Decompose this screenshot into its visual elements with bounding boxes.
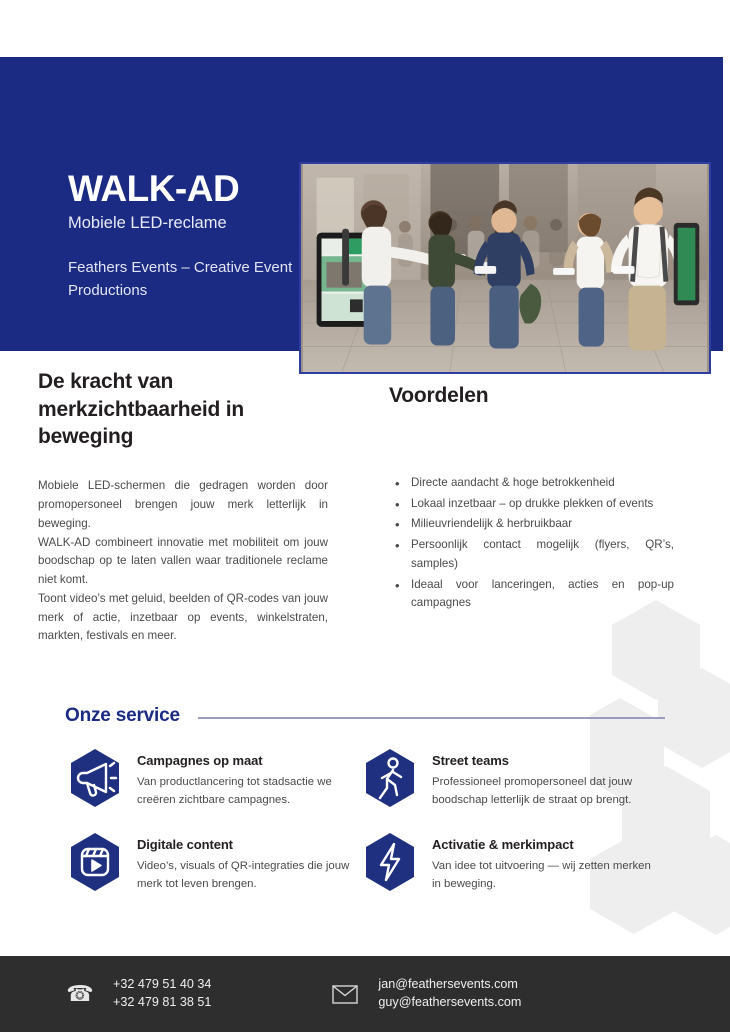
phone-number[interactable]: +32 479 81 38 51 xyxy=(113,994,211,1012)
megaphone-icon xyxy=(65,747,125,809)
intro-paragraph-1: Mobiele LED-schermen die gedragen worden… xyxy=(38,477,328,533)
telephone-icon: ☎ xyxy=(63,983,97,1005)
service-text-street-teams: Street teams Professioneel promopersonee… xyxy=(432,747,660,809)
service-description: Video’s, visuals of QR-integraties die j… xyxy=(137,858,360,893)
email-address[interactable]: jan@feathersevents.com xyxy=(378,976,521,994)
intro-paragraph-2: WALK-AD combineert innovatie met mobilit… xyxy=(38,534,328,590)
service-item-activatie: Activatie & merkimpact Van idee tot uitv… xyxy=(360,831,660,893)
email-address[interactable]: guy@feathersevents.com xyxy=(378,994,521,1012)
hero-photo xyxy=(299,162,711,374)
footer-phone-group: ☎ +32 479 51 40 34 +32 479 81 38 51 xyxy=(63,976,211,1012)
services-header-row: Onze service xyxy=(65,705,665,727)
left-content-column: De kracht van merkzichtbaarheid in beweg… xyxy=(38,368,328,646)
services-grid: Campagnes op maat Van productlancering t… xyxy=(65,747,665,894)
service-title: Campagnes op maat xyxy=(137,753,360,768)
service-item-campagnes: Campagnes op maat Van productlancering t… xyxy=(65,747,360,809)
lightning-bolt-icon xyxy=(360,831,420,893)
service-text-activatie: Activatie & merkimpact Van idee tot uitv… xyxy=(432,831,660,893)
services-section: Onze service Campagnes op maat xyxy=(65,705,665,894)
video-player-icon xyxy=(65,831,125,893)
hero-banner: WALK-AD Mobiele LED-reclame Feathers Eve… xyxy=(0,57,723,351)
hero-text-block: WALK-AD Mobiele LED-reclame Feathers Eve… xyxy=(68,170,293,302)
intro-paragraph-3: Toont video’s met geluid, beelden of QR-… xyxy=(38,590,328,646)
benefits-list: Directe aandacht & hoge betrokkenheid Lo… xyxy=(389,474,674,613)
intro-copy: Mobiele LED-schermen die gedragen worden… xyxy=(38,477,328,646)
left-section-heading: De kracht van merkzichtbaarheid in beweg… xyxy=(38,368,328,451)
list-item: Ideaal voor lanceringen, acties en pop-u… xyxy=(389,576,674,614)
walking-person-icon xyxy=(360,747,420,809)
benefits-heading: Voordelen xyxy=(389,382,674,410)
service-description: Van idee tot uitvoering — wij zetten mer… xyxy=(432,858,660,893)
service-title: Activatie & merkimpact xyxy=(432,837,660,852)
list-item: Persoonlijk contact mogelijk (flyers, QR… xyxy=(389,536,674,574)
service-item-digitale-content: Digitale content Video’s, visuals of QR-… xyxy=(65,831,360,893)
hero-organisation: Feathers Events – Creative Event Product… xyxy=(68,256,293,303)
services-heading: Onze service xyxy=(65,705,180,727)
list-item: Milieuvriendelijk & herbruikbaar xyxy=(389,515,674,534)
footer-phone-numbers: +32 479 51 40 34 +32 479 81 38 51 xyxy=(113,976,211,1012)
page-title: WALK-AD xyxy=(68,170,293,209)
envelope-icon xyxy=(328,985,362,1004)
service-text-digitale-content: Digitale content Video’s, visuals of QR-… xyxy=(137,831,360,893)
phone-number[interactable]: +32 479 51 40 34 xyxy=(113,976,211,994)
service-description: Professioneel promopersoneel dat jouw bo… xyxy=(432,774,660,809)
service-title: Digitale content xyxy=(137,837,360,852)
list-item: Lokaal inzetbaar – op drukke plekken of … xyxy=(389,495,674,514)
footer-email-addresses: jan@feathersevents.com guy@feathersevent… xyxy=(378,976,521,1012)
hero-subtitle: Mobiele LED-reclame xyxy=(68,214,293,234)
services-divider xyxy=(198,717,665,719)
list-item: Directe aandacht & hoge betrokkenheid xyxy=(389,474,674,493)
right-content-column: Voordelen Directe aandacht & hoge betrok… xyxy=(389,382,674,615)
service-description: Van productlancering tot stadsactie we c… xyxy=(137,774,360,809)
footer-contact-bar: ☎ +32 479 51 40 34 +32 479 81 38 51 jan@… xyxy=(0,956,730,1032)
service-title: Street teams xyxy=(432,753,660,768)
service-text-campagnes: Campagnes op maat Van productlancering t… xyxy=(137,747,360,809)
flyer-page: WALK-AD Mobiele LED-reclame Feathers Eve… xyxy=(0,0,730,1032)
service-item-street-teams: Street teams Professioneel promopersonee… xyxy=(360,747,660,809)
footer-email-group: jan@feathersevents.com guy@feathersevent… xyxy=(328,976,521,1012)
